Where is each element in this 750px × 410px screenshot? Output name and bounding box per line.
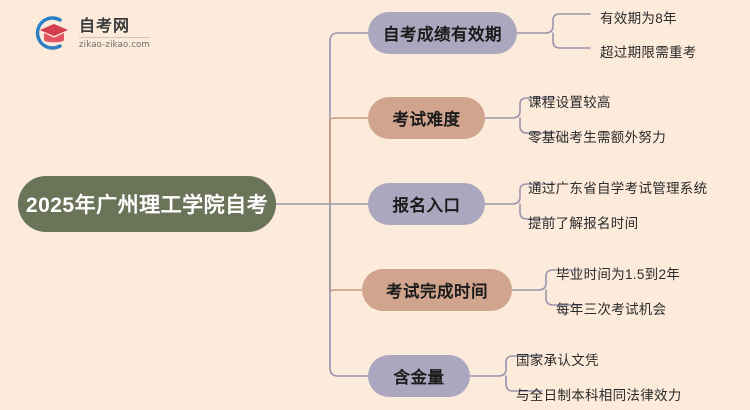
leaf-node-2-1[interactable]: 课程设置较高 [528, 91, 611, 111]
site-logo: 自考网 zikao-zikao.com [30, 11, 180, 55]
leaf-node-3-2[interactable]: 提前了解报名时间 [528, 212, 638, 232]
branch-node-2[interactable]: 考试难度 [368, 97, 485, 139]
branch-node-5[interactable]: 含金量 [368, 355, 470, 397]
leaf-node-1-1[interactable]: 有效期为8年 [600, 7, 677, 27]
logo-title: 自考网 [79, 18, 150, 39]
branch-node-3[interactable]: 报名入口 [368, 183, 485, 225]
leaf-node-4-1[interactable]: 毕业时间为1.5到2年 [556, 263, 680, 283]
leaf-node-5-1[interactable]: 国家承认文凭 [516, 349, 599, 369]
leaf-node-5-2[interactable]: 与全日制本科相同法律效力 [516, 384, 682, 404]
branch-node-1[interactable]: 自考成绩有效期 [368, 12, 517, 54]
graduation-cap-icon [30, 12, 72, 54]
mindmap-root-node[interactable]: 2025年广州理工学院自考 [18, 176, 276, 232]
branch-node-4[interactable]: 考试完成时间 [362, 269, 512, 311]
leaf-node-2-2[interactable]: 零基础考生需额外努力 [528, 126, 666, 146]
logo-domain: zikao-zikao.com [79, 40, 150, 50]
leaf-node-3-1[interactable]: 通过广东省自学考试管理系统 [528, 177, 707, 197]
logo-text: 自考网 zikao-zikao.com [79, 16, 150, 51]
leaf-node-4-2[interactable]: 每年三次考试机会 [556, 298, 666, 318]
mindmap-canvas: 自考网 zikao-zikao.com [0, 0, 750, 410]
leaf-node-1-2[interactable]: 超过期限需重考 [600, 41, 697, 61]
